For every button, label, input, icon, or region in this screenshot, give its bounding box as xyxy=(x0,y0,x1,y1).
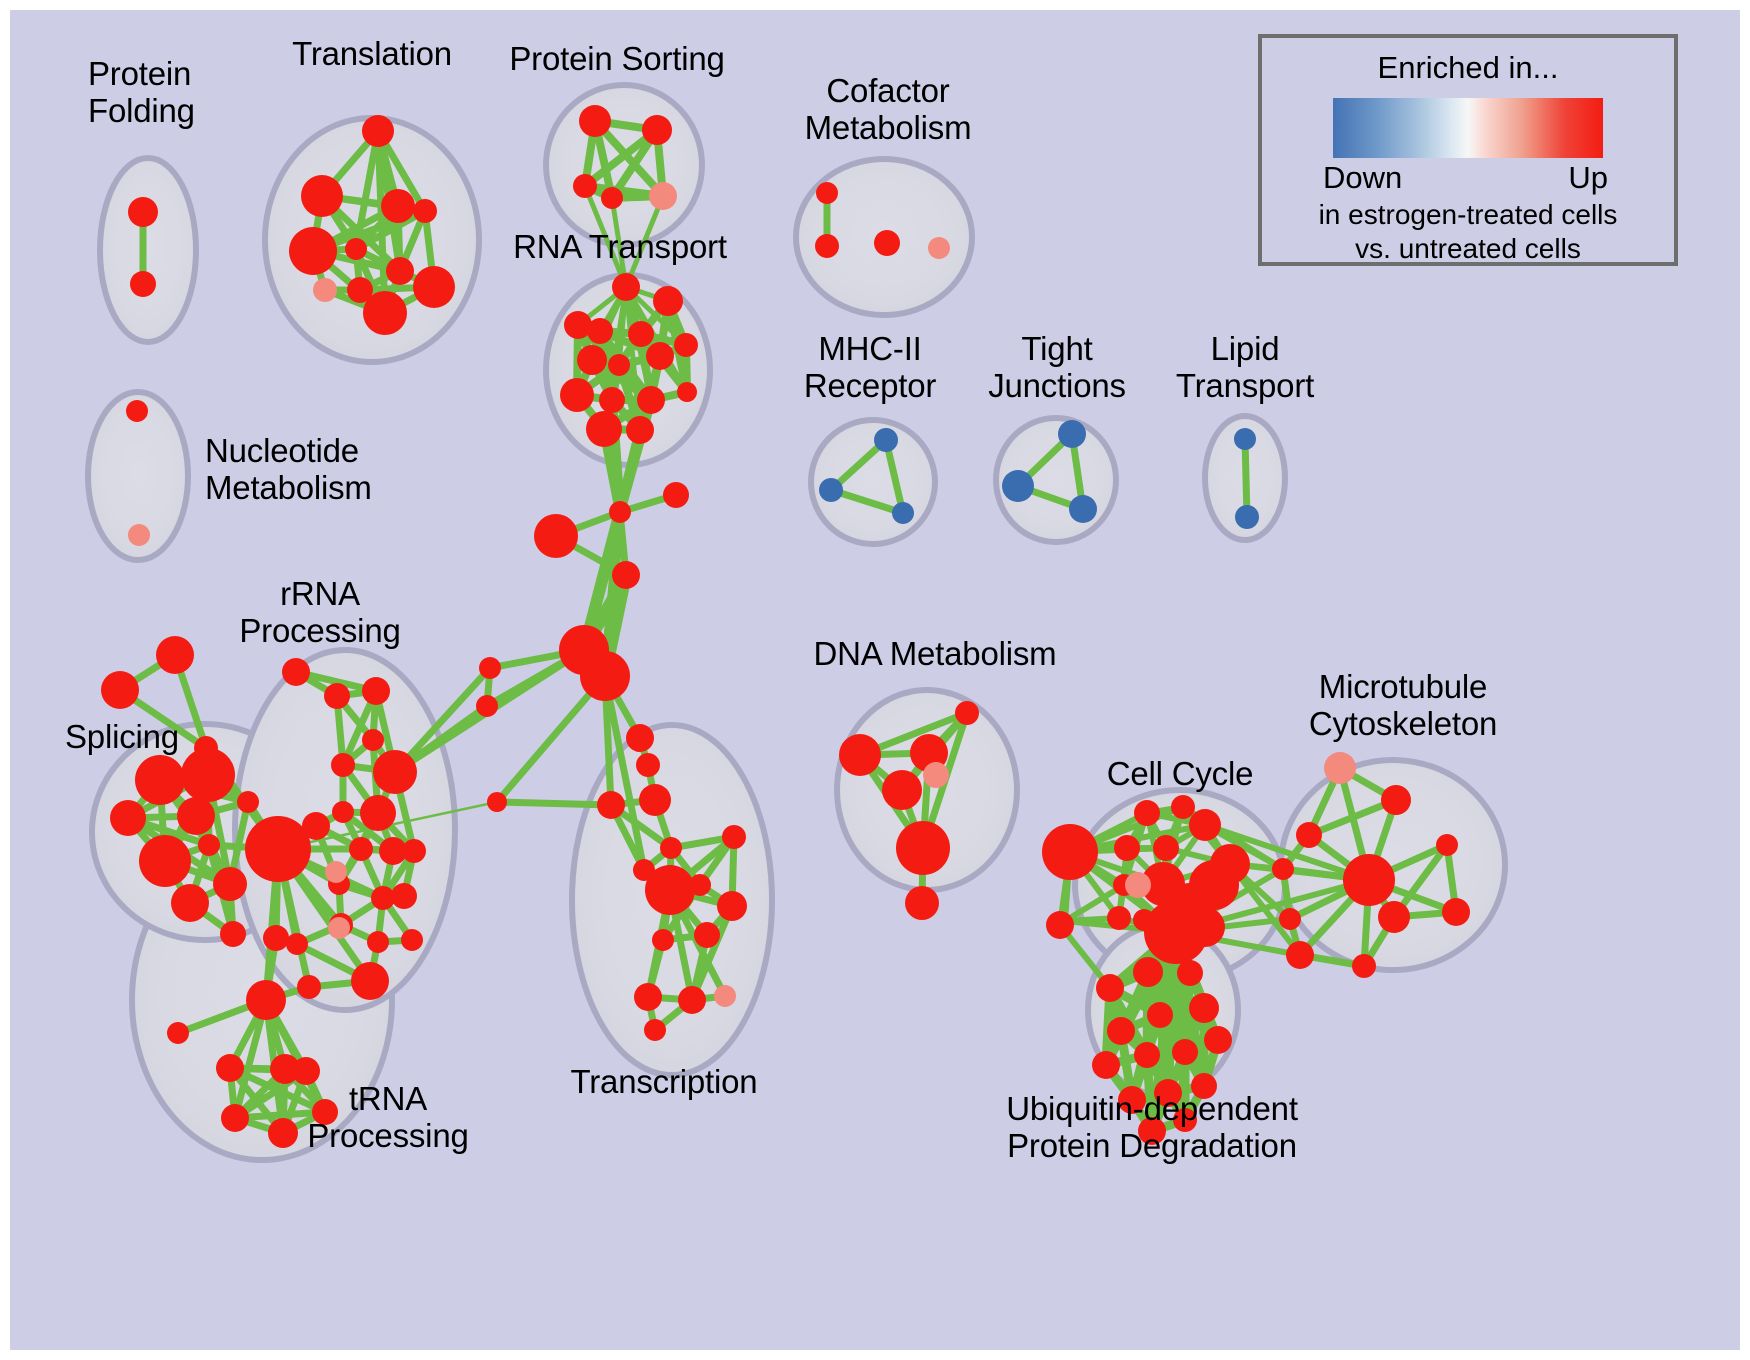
node xyxy=(637,386,665,414)
node xyxy=(722,825,746,849)
node xyxy=(413,199,437,223)
node xyxy=(612,273,640,301)
node xyxy=(362,677,390,705)
node xyxy=(1134,1042,1160,1068)
node xyxy=(360,795,396,831)
node xyxy=(391,883,417,909)
node xyxy=(645,865,695,915)
node xyxy=(642,115,672,145)
node xyxy=(639,784,671,816)
cluster-ellipse-protein-folding xyxy=(100,158,196,342)
node xyxy=(263,925,289,951)
legend-subtitle-line-1: in estrogen-treated cells xyxy=(1262,198,1674,232)
node xyxy=(646,342,674,370)
node xyxy=(1133,957,1163,987)
cluster-label-nucleotide-metabolism: NucleotideMetabolism xyxy=(205,432,372,506)
node xyxy=(839,734,881,776)
node xyxy=(955,701,979,725)
cluster-label-protein-folding: ProteinFolding xyxy=(88,55,195,129)
node xyxy=(331,753,355,777)
node xyxy=(1107,1017,1135,1045)
node xyxy=(328,917,350,939)
node xyxy=(1002,470,1034,502)
node xyxy=(1042,824,1098,880)
node xyxy=(587,318,613,344)
node xyxy=(601,187,623,209)
node xyxy=(1172,1039,1198,1065)
node xyxy=(599,387,625,413)
node xyxy=(345,238,367,260)
node xyxy=(1235,505,1259,529)
node xyxy=(130,271,156,297)
node xyxy=(171,884,209,922)
node xyxy=(381,189,415,223)
legend-title: Enriched in... xyxy=(1262,50,1674,86)
node xyxy=(220,921,246,947)
node xyxy=(351,962,389,1000)
node xyxy=(1096,974,1124,1002)
node xyxy=(1234,428,1256,450)
node xyxy=(717,891,747,921)
node xyxy=(1352,954,1376,978)
cluster-label-trna-processing: tRNAProcessing xyxy=(307,1080,468,1154)
node xyxy=(1069,495,1097,523)
node xyxy=(1107,906,1131,930)
node xyxy=(362,729,384,751)
node xyxy=(362,115,394,147)
node xyxy=(479,657,501,679)
node xyxy=(268,1118,298,1148)
cluster-label-splicing: Splicing xyxy=(65,718,179,755)
node xyxy=(1272,858,1294,880)
node xyxy=(816,182,838,204)
node xyxy=(649,182,677,210)
node xyxy=(1134,800,1160,826)
node xyxy=(1204,1026,1232,1054)
node xyxy=(714,985,736,1007)
node xyxy=(608,354,630,376)
node xyxy=(301,175,343,217)
node xyxy=(332,801,354,823)
node xyxy=(612,561,640,589)
node xyxy=(139,835,191,887)
node xyxy=(1442,898,1470,926)
node xyxy=(1114,835,1140,861)
node xyxy=(905,886,939,920)
node xyxy=(401,929,423,951)
node xyxy=(1324,752,1356,784)
node xyxy=(1177,960,1203,986)
node xyxy=(128,524,150,546)
cluster-label-tight-junctions: TightJunctions xyxy=(988,330,1126,404)
node xyxy=(476,695,498,717)
node xyxy=(874,230,900,256)
node xyxy=(815,234,839,258)
node xyxy=(1286,941,1314,969)
node xyxy=(694,922,720,948)
node xyxy=(674,333,698,357)
node xyxy=(156,636,194,674)
node xyxy=(487,792,507,812)
node xyxy=(367,931,389,953)
cluster-label-transcription: Transcription xyxy=(571,1063,758,1100)
node xyxy=(413,266,455,308)
node xyxy=(289,227,337,275)
node xyxy=(628,321,654,347)
node xyxy=(882,770,922,810)
node xyxy=(402,839,426,863)
node xyxy=(653,286,683,316)
node xyxy=(177,797,215,835)
node xyxy=(660,837,682,859)
legend-subtitle-line-2: vs. untreated cells xyxy=(1262,232,1674,266)
node xyxy=(282,658,310,686)
cluster-label-cofactor-metabolism: CofactorMetabolism xyxy=(805,72,972,146)
node xyxy=(923,762,949,788)
node xyxy=(237,791,259,813)
node xyxy=(874,428,898,452)
node xyxy=(677,382,697,402)
node xyxy=(819,478,843,502)
node xyxy=(213,867,247,901)
node xyxy=(297,975,321,999)
node xyxy=(663,482,689,508)
node xyxy=(678,986,706,1014)
node xyxy=(1125,872,1151,898)
node xyxy=(579,105,611,137)
node xyxy=(1189,809,1221,841)
node xyxy=(325,861,347,883)
node xyxy=(198,834,220,856)
node xyxy=(373,750,417,794)
node xyxy=(573,174,597,198)
cluster-label-lipid-transport: LipidTransport xyxy=(1176,330,1314,404)
node xyxy=(892,502,914,524)
enrichment-map-figure: ProteinFolding Translation Protein Sorti… xyxy=(0,0,1750,1360)
cluster-label-rrna-processing: rRNAProcessing xyxy=(239,575,400,649)
node xyxy=(626,416,654,444)
node xyxy=(928,237,950,259)
node xyxy=(1279,908,1301,930)
node xyxy=(181,748,235,802)
node xyxy=(246,980,286,1020)
legend-down-label: Down xyxy=(1323,160,1402,196)
cluster-label-ubiquitin-protein-degradation: Ubiquitin-dependentProtein Degradation xyxy=(1006,1090,1298,1164)
node xyxy=(626,724,654,752)
cluster-label-mhc-ii-receptor: MHC-IIReceptor xyxy=(804,330,936,404)
cluster-ellipse-protein-sorting xyxy=(546,85,702,245)
node xyxy=(1185,907,1225,947)
node xyxy=(1058,420,1086,448)
node xyxy=(1147,1002,1173,1028)
node xyxy=(636,753,660,777)
legend-color-gradient-bar xyxy=(1333,98,1603,158)
legend-up-label: Up xyxy=(1568,160,1608,196)
cluster-label-translation: Translation xyxy=(292,35,452,72)
node xyxy=(534,514,578,558)
node xyxy=(216,1054,244,1082)
node xyxy=(597,791,625,819)
node xyxy=(324,683,350,709)
cluster-label-cell-cycle: Cell Cycle xyxy=(1107,755,1254,792)
node xyxy=(577,345,607,375)
node xyxy=(1296,822,1322,848)
node xyxy=(110,800,146,836)
node xyxy=(221,1104,249,1132)
node xyxy=(644,1019,666,1041)
node xyxy=(1436,834,1458,856)
node xyxy=(128,197,158,227)
node xyxy=(634,983,662,1011)
node xyxy=(101,671,139,709)
cluster-label-dna-metabolism: DNA Metabolism xyxy=(814,635,1057,672)
node xyxy=(386,257,414,285)
node xyxy=(135,755,185,805)
node xyxy=(1378,901,1410,933)
node xyxy=(313,278,337,302)
cluster-label-microtubule-cytoskeleton: MicrotubuleCytoskeleton xyxy=(1309,668,1497,742)
node xyxy=(896,821,950,875)
node xyxy=(1153,835,1179,861)
node xyxy=(1046,911,1074,939)
node xyxy=(286,933,308,955)
node xyxy=(580,651,630,701)
node xyxy=(1189,993,1219,1023)
node xyxy=(560,378,594,412)
cluster-label-protein-sorting: Protein Sorting xyxy=(509,40,724,77)
node xyxy=(652,929,674,951)
node xyxy=(167,1022,189,1044)
node xyxy=(349,837,373,861)
node xyxy=(586,411,622,447)
node xyxy=(689,874,711,896)
legend-panel: Enriched in... Down Up in estrogen-treat… xyxy=(1258,34,1678,266)
cluster-label-rna-transport: RNA Transport xyxy=(513,228,727,265)
legend-end-labels: Down Up xyxy=(1318,160,1618,198)
node xyxy=(363,291,407,335)
node xyxy=(126,400,148,422)
node xyxy=(245,816,311,882)
node xyxy=(1171,795,1195,819)
node xyxy=(609,501,631,523)
node xyxy=(1343,854,1395,906)
node xyxy=(1381,785,1411,815)
node xyxy=(1092,1051,1120,1079)
